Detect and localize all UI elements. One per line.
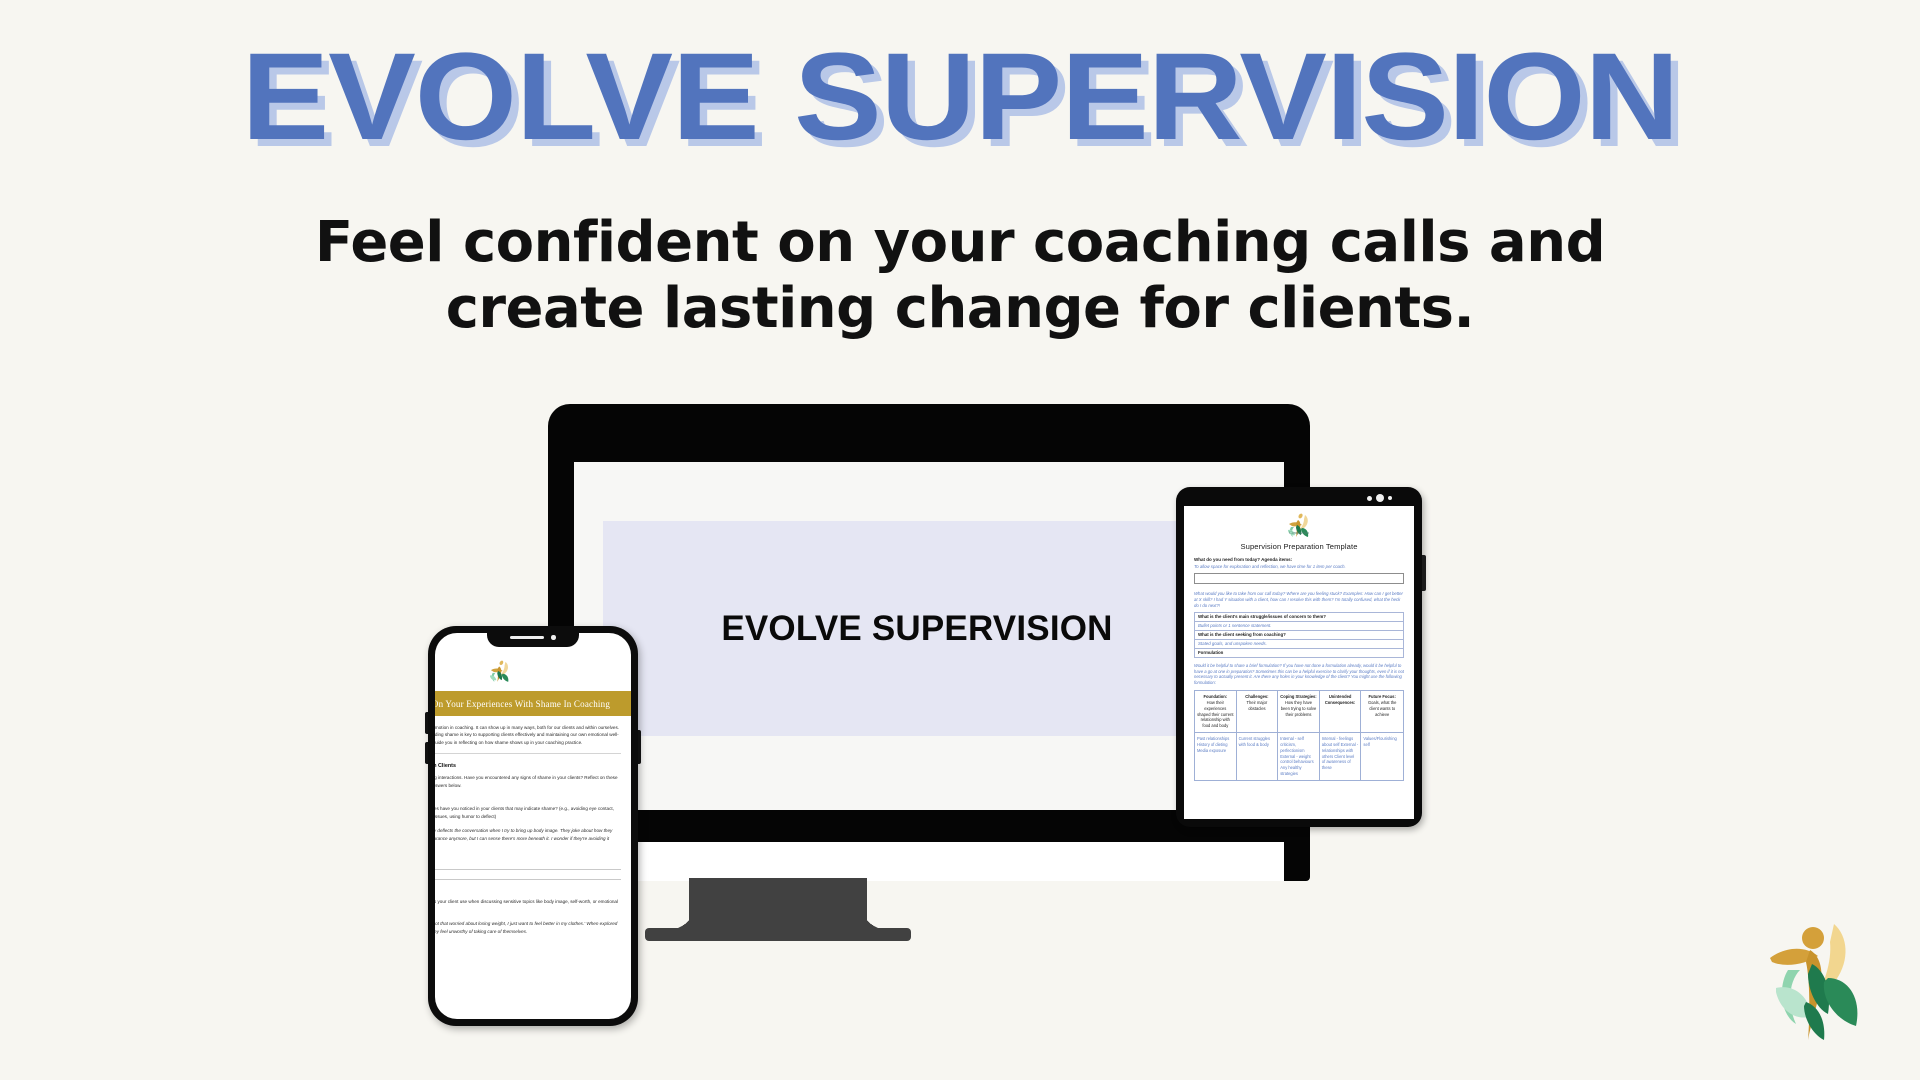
subtitle-line-2: create lasting change for clients.	[160, 276, 1760, 342]
worksheet-subheading-behavior: Behavior	[435, 796, 621, 802]
tablet-camera-icon	[1376, 494, 1384, 502]
worksheet-reflection-label-1: Your Reflection:	[435, 855, 621, 860]
formulation-body-cell: Current struggles with food & body	[1237, 733, 1279, 780]
compassion-logo-icon	[480, 659, 520, 683]
formulation-body-cell: Internal - self criticism, perfectionism…	[1278, 733, 1320, 780]
formulation-table: Foundation: How their experiences shaped…	[1194, 690, 1404, 781]
worksheet-example-1: Example: A client constantly deflects th…	[435, 827, 621, 849]
tablet-sensor-icon	[1367, 496, 1372, 501]
phone-volume-down-button[interactable]	[425, 742, 428, 764]
formulation-header-cell: Future Focus: Goals, what the client wan…	[1361, 691, 1403, 733]
formulation-header-cell: Coping Strategies: How they have been tr…	[1278, 691, 1320, 733]
monitor-chin	[574, 842, 1284, 881]
phone-screen: Reflecting On Your Experiences With Sham…	[435, 633, 631, 1019]
worksheet-section-heading: Recognizing Shame in Clients	[435, 763, 621, 769]
table-row: What is the client's main struggle/issue…	[1195, 613, 1403, 622]
subtitle-line-1: Feel confident on your coaching calls an…	[160, 210, 1760, 276]
take-from-call-hint: What would you like to take from our cal…	[1194, 591, 1404, 609]
agenda-hint-text: To allow space for exploration and refle…	[1194, 564, 1404, 570]
table-row: Formulation	[1195, 649, 1403, 657]
compassion-logo-icon: Compassion	[1277, 512, 1321, 538]
monitor-stand-base	[645, 928, 911, 941]
table-row: Stated goals, and unspoken needs.	[1195, 640, 1403, 649]
tablet-document-title: Supervision Preparation Template	[1194, 542, 1404, 551]
phone-power-button[interactable]	[638, 730, 641, 764]
tablet-mockup: Compassion Supervision Preparation Templ…	[1176, 487, 1422, 827]
worksheet-reflection-line-1[interactable]	[435, 869, 621, 870]
phone-speaker-icon	[510, 636, 544, 640]
formulation-hint-text: Would it be helpful to share a brief for…	[1194, 663, 1404, 687]
phone-notch	[487, 626, 579, 647]
shame-worksheet-document: Reflecting On Your Experiences With Sham…	[435, 653, 631, 949]
worksheet-question-1: What behaviors or responses have you not…	[435, 805, 621, 820]
supervision-template-document: Compassion Supervision Preparation Templ…	[1184, 506, 1414, 781]
tablet-screen: Compassion Supervision Preparation Templ…	[1184, 506, 1414, 819]
table-row: What is the client seeking from coaching…	[1195, 631, 1403, 640]
worksheet-title-band: Reflecting On Your Experiences With Sham…	[435, 691, 631, 716]
page-subtitle: Feel confident on your coaching calls an…	[160, 210, 1760, 342]
worksheet-logo	[435, 653, 631, 691]
tablet-mic-icon	[1388, 496, 1392, 500]
worksheet-example-2: Example: Client says, 'I'm not that worr…	[435, 920, 621, 935]
formulation-header-desc: How their experiences shaped their curre…	[1197, 700, 1233, 728]
tablet-camera-array	[1367, 494, 1392, 502]
svg-text:Compassion: Compassion	[1289, 530, 1309, 535]
phone-mockup: Reflecting On Your Experiences With Sham…	[428, 626, 638, 1026]
phone-front-camera-icon	[551, 635, 556, 640]
worksheet-section-intro: Think about recent coaching interactions…	[435, 774, 621, 789]
formulation-header-title: Unintended Consequences:	[1322, 694, 1359, 706]
supervision-questions-table: What is the client's main struggle/issue…	[1194, 612, 1404, 658]
brand-logo-icon	[1766, 918, 1872, 1042]
tablet-power-button[interactable]	[1422, 555, 1426, 591]
formulation-header-desc: Their major obstacles	[1247, 700, 1268, 711]
agenda-input[interactable]	[1194, 573, 1404, 584]
formulation-header-desc: Goals, what the client wants to achieve	[1368, 700, 1396, 717]
formulation-header-cell: Challenges: Their major obstacles	[1237, 691, 1279, 733]
monitor-slide-title: EVOLVE SUPERVISION	[721, 609, 1112, 649]
worksheet-body: Shame can be a powerful emotion in coach…	[435, 724, 631, 946]
monitor-slide: EVOLVE SUPERVISION	[603, 521, 1231, 736]
formulation-body-cell: Internal - feelings about self External …	[1320, 733, 1362, 780]
promo-banner: EVOLVE SUPERVISION Feel confident on you…	[0, 0, 1920, 1080]
formulation-header-cell: Unintended Consequences:	[1320, 691, 1362, 733]
worksheet-subheading-language: Language	[435, 889, 621, 895]
formulation-header-cell: Foundation: How their experiences shaped…	[1195, 691, 1237, 733]
table-row: Bullet points or 1 sentence statement.	[1195, 622, 1403, 631]
page-title: EVOLVE SUPERVISION	[0, 34, 1920, 160]
worksheet-reflection-line-2[interactable]	[435, 879, 621, 880]
formulation-header-desc: How they have been trying to solve their…	[1281, 700, 1317, 717]
phone-volume-up-button[interactable]	[425, 712, 428, 734]
agenda-question-label: What do you need from today? Agenda item…	[1194, 557, 1404, 562]
worksheet-title: Reflecting On Your Experiences With Sham…	[435, 699, 610, 709]
divider	[435, 753, 621, 754]
worksheet-intro: Shame can be a powerful emotion in coach…	[435, 724, 621, 746]
worksheet-question-2: What type of language does your client u…	[435, 898, 621, 913]
worksheet-reflection-label-2: Your Reflection:	[435, 941, 621, 946]
formulation-body-cell: Values/Flourishing self	[1361, 733, 1403, 780]
document-logo: Compassion	[1194, 512, 1404, 538]
formulation-body-cell: Past relationships History of dieting Me…	[1195, 733, 1237, 780]
